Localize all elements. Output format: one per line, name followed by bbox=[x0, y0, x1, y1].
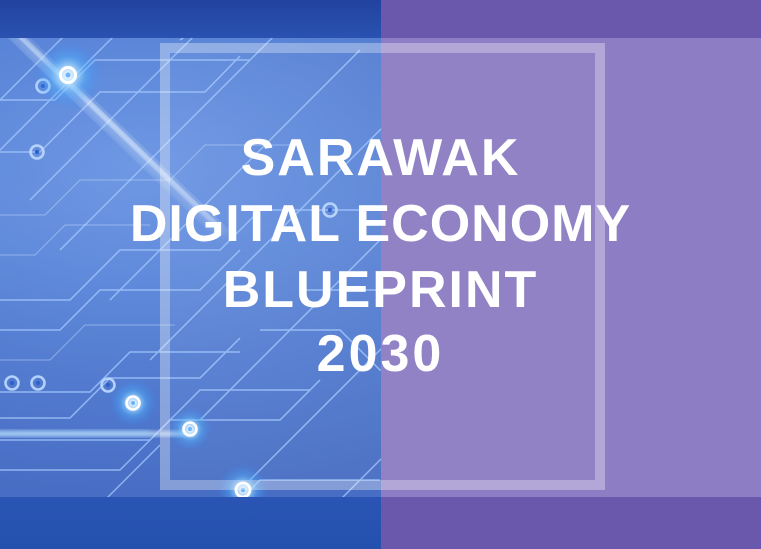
poster-canvas: SARAWAK DIGITAL ECONOMY BLUEPRINT 2030 bbox=[0, 0, 761, 549]
title-line-2: DIGITAL ECONOMY bbox=[0, 198, 761, 250]
title-line-4-year: 2030 bbox=[0, 328, 761, 380]
title-line-3: BLUEPRINT bbox=[0, 264, 761, 316]
purple-overlay-bottom bbox=[381, 497, 761, 549]
poster-title: SARAWAK DIGITAL ECONOMY BLUEPRINT 2030 bbox=[0, 132, 761, 380]
purple-overlay-top bbox=[381, 0, 761, 38]
title-line-1: SARAWAK bbox=[0, 132, 761, 184]
